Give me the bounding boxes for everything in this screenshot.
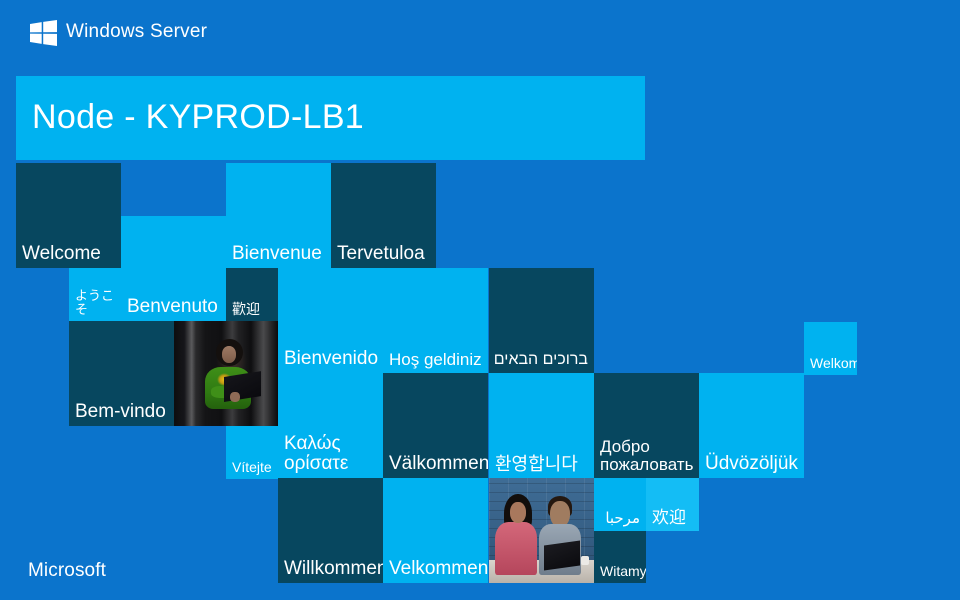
tile-witamy: Witamy [594,531,646,583]
tile-label: Hoş geldiniz [389,351,484,369]
tile-dobro: Добро пожаловать [594,373,699,478]
brand-bar: Windows Server [0,0,960,65]
brand-title: Windows Server [66,21,207,43]
tile-marhaba: مرحبا [594,478,646,531]
tile-label: 歡迎 [232,302,274,317]
tile-label: 환영합니다 [495,455,590,474]
tile-benvenuto: Benvenuto [121,268,226,321]
tile-bem-vindo: Bem-vindo [69,321,174,426]
tile-label: Welkom [810,356,853,371]
tile-label: Vítejte [232,460,274,475]
tile-label: 欢迎 [652,509,695,527]
tile-label: Velkommen [389,559,484,579]
tile-label: Bem-vindo [75,402,170,422]
tile-vitejte: Vítejte [226,426,278,479]
tile-huanying-s: 欢迎 [646,478,699,531]
photo-two-students [489,478,594,583]
tile-bienvenido: Bienvenido [278,268,383,373]
tile-bienvenue: Bienvenue [226,163,331,268]
microsoft-wordmark: Microsoft [28,560,106,582]
tile-youkoso: ようこそ [69,268,121,321]
windows-logo-icon [30,20,57,46]
photo-woman-laptop [174,321,278,426]
tile-label: ようこそ [75,289,117,317]
tile-welkom: Welkom [804,322,857,375]
tile-label: ברוכים הבאים [493,352,588,369]
tile-hebrew: ברוכים הבאים [489,268,594,373]
tile-korean: 환영합니다 [489,373,594,478]
tile-tervetuloa: Tervetuloa [331,163,436,268]
tile-valkommen: Välkommen [383,373,488,478]
tile-velkommen: Velkommen [383,478,488,583]
tile-label: Καλώς ορίσατε [284,434,379,474]
tile-label: مرحبا [598,511,640,527]
tile-welcome: Welcome [16,163,121,268]
tile-label: Welcome [22,244,117,264]
tile-hos-geldin: Hoş geldiniz [383,268,488,373]
tile-udvozoljuk: Üdvözöljük [699,373,804,478]
tile-label: Willkommen [284,559,379,579]
tile-label: Witamy [600,564,642,579]
windows-server-welcome-screen: Windows Server Node - KYPROD-LB1 Welcome… [0,0,960,600]
tile-willkommen: Willkommen [278,478,383,583]
tile-huanying-t: 歡迎 [226,268,278,321]
tile-label: Benvenuto [127,297,222,317]
tile-blank-a [121,163,226,216]
tile-label: Üdvözöljük [705,454,800,474]
tile-label: Bienvenue [232,244,327,264]
tile-kalos: Καλώς ορίσατε [278,373,383,478]
tile-label: Добро пожаловать [600,438,695,474]
tile-label: Bienvenido [284,349,379,369]
tile-label: Tervetuloa [337,244,432,264]
tile-label: Välkommen [389,454,484,474]
page-title: Node - KYPROD-LB1 [32,98,364,137]
